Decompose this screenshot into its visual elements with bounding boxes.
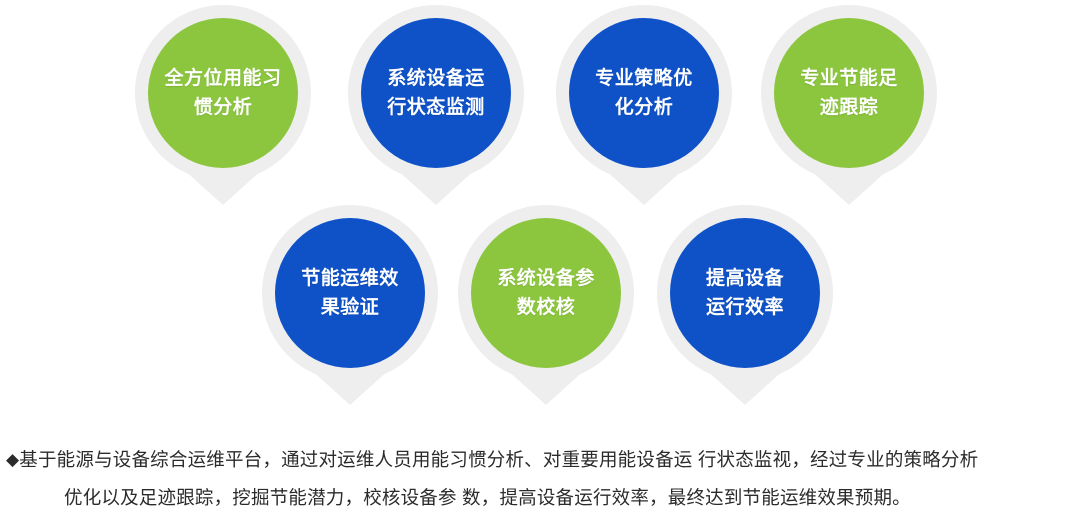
pin-marker-3[interactable]: 专业策略优 化分析: [556, 5, 732, 205]
pin-label-6: 系统设备参 数校核: [471, 218, 621, 368]
caption-line-2: 优化以及足迹跟踪，挖掘节能潜力，校核设备参 数，提高设备运行效率，最终达到节能运…: [0, 479, 1076, 517]
caption-line-1: ◆基于能源与设备综合运维平台，通过对运维人员用能习惯分析、对重要用能设备运 行状…: [0, 441, 1076, 479]
pin-marker-1[interactable]: 全方位用能习 惯分析: [135, 5, 311, 205]
pin-label-1: 全方位用能习 惯分析: [148, 18, 298, 168]
caption-block: ◆基于能源与设备综合运维平台，通过对运维人员用能习惯分析、对重要用能设备运 行状…: [0, 441, 1076, 517]
pin-marker-4[interactable]: 专业节能足 迹跟踪: [761, 5, 937, 205]
pin-label-7: 提高设备 运行效率: [670, 218, 820, 368]
pin-label-5: 节能运维效 果验证: [275, 218, 425, 368]
pin-marker-5[interactable]: 节能运维效 果验证: [262, 205, 438, 405]
caption-line-1-text: 基于能源与设备综合运维平台，通过对运维人员用能习惯分析、对重要用能设备运 行状态…: [19, 449, 978, 470]
pin-label-2: 系统设备运 行状态监测: [361, 18, 511, 168]
pin-marker-2[interactable]: 系统设备运 行状态监测: [348, 5, 524, 205]
pin-diagram: 全方位用能习 惯分析 系统设备运 行状态监测 专业策略优 化分析 专业节能足 迹…: [0, 0, 1076, 510]
pin-marker-6[interactable]: 系统设备参 数校核: [458, 205, 634, 405]
pin-label-3: 专业策略优 化分析: [569, 18, 719, 168]
pin-marker-7[interactable]: 提高设备 运行效率: [657, 205, 833, 405]
diamond-bullet-icon: ◆: [6, 450, 19, 469]
pin-label-4: 专业节能足 迹跟踪: [774, 18, 924, 168]
